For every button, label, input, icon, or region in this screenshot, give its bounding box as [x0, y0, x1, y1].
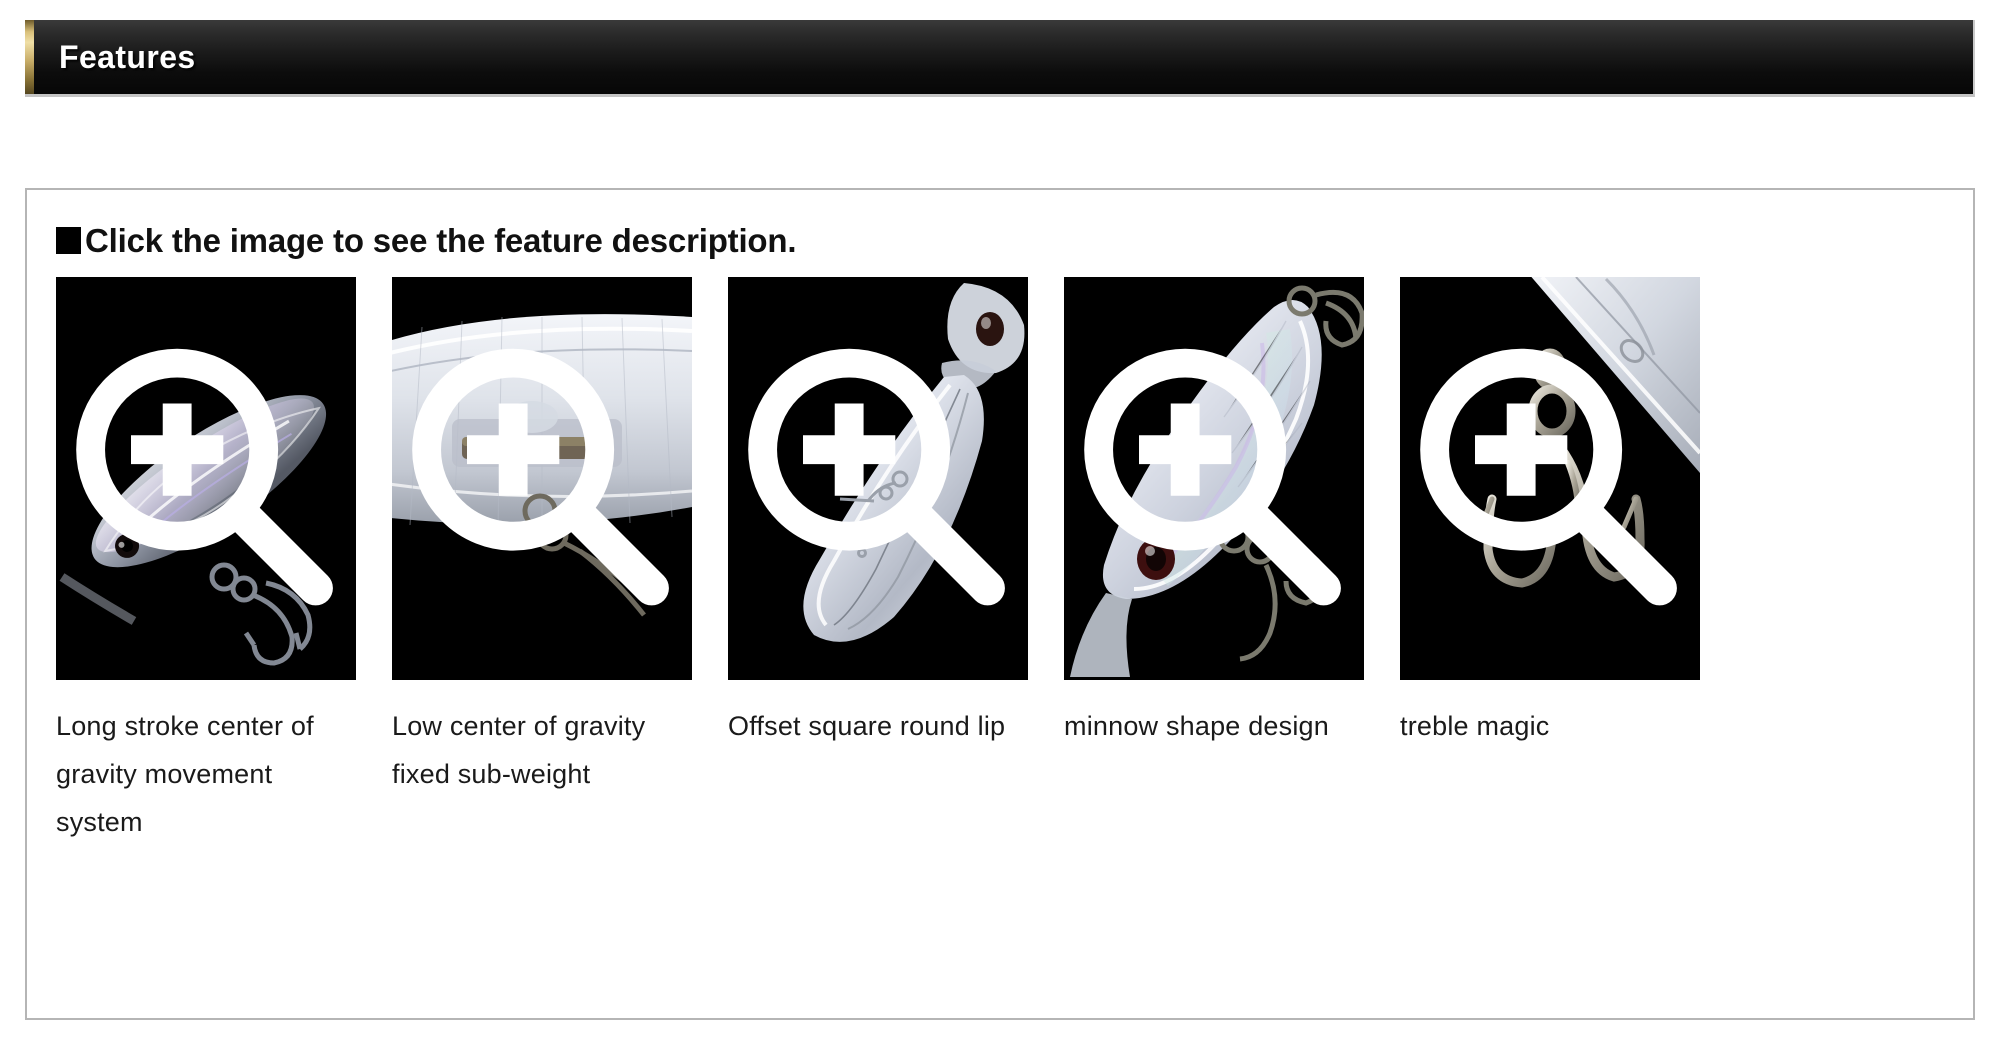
panel-heading: Click the image to see the feature descr… — [27, 190, 1973, 257]
feature-thumbnail-4[interactable] — [1064, 277, 1364, 680]
feature-item: treble magic — [1400, 277, 1700, 846]
feature-caption: treble magic — [1400, 702, 1700, 750]
feature-caption: Offset square round lip — [728, 702, 1028, 750]
feature-thumbnail-5[interactable] — [1400, 277, 1700, 680]
feature-caption: Low center of gravity fixed sub-weight — [392, 702, 692, 798]
feature-caption: Long stroke center of gravity movement s… — [56, 702, 356, 846]
features-panel: Click the image to see the feature descr… — [25, 188, 1975, 1020]
header-accent-stripe — [25, 20, 34, 94]
feature-caption: minnow shape design — [1064, 702, 1364, 750]
treble-hook-photo — [1400, 277, 1700, 680]
lure-body-photo — [56, 277, 356, 680]
feature-grid: Long stroke center of gravity movement s… — [27, 257, 1973, 846]
feature-item: Offset square round lip — [728, 277, 1028, 846]
feature-thumbnail-2[interactable] — [392, 277, 692, 680]
feature-thumbnail-1[interactable] — [56, 277, 356, 680]
feature-item: Long stroke center of gravity movement s… — [56, 277, 356, 846]
minnow-shape-photo — [1064, 277, 1364, 680]
sub-weight-closeup-photo — [392, 277, 692, 680]
feature-item: Low center of gravity fixed sub-weight — [392, 277, 692, 846]
page-title: Features — [59, 39, 196, 76]
section-header-bar: Features — [25, 20, 1975, 97]
feature-item: minnow shape design — [1064, 277, 1364, 846]
black-square-bullet-icon — [56, 227, 81, 254]
feature-thumbnail-3[interactable] — [728, 277, 1028, 680]
panel-heading-text: Click the image to see the feature descr… — [85, 224, 796, 257]
lure-lip-closeup-photo — [728, 277, 1028, 680]
